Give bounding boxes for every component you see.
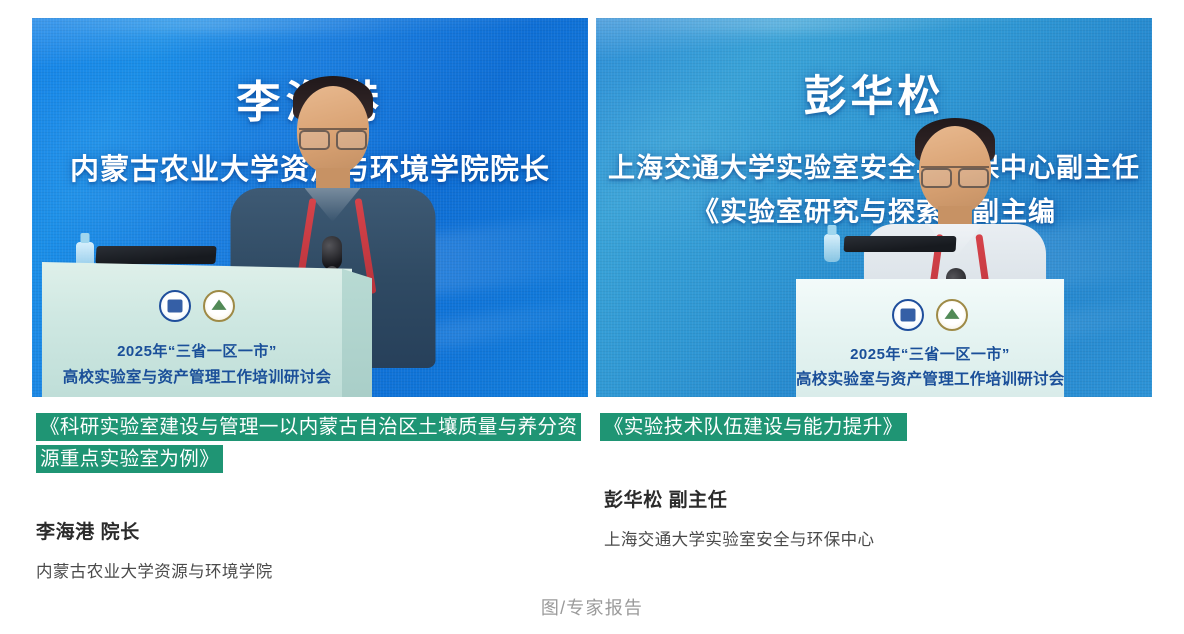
podium: 2025年“三省一区一市” 高校实验室与资产管理工作培训研讨会: [42, 262, 352, 397]
university-logo-icon: [892, 299, 924, 331]
podium-title-line-2: 高校实验室与资产管理工作培训研讨会: [42, 365, 352, 387]
podium-logos: [42, 290, 352, 322]
glasses-icon: [299, 128, 367, 145]
talk-title-wrap-1: 《科研实验室建设与管理一以内蒙古自治区土壤质量与养分资源重点实验室为例》: [32, 411, 588, 475]
speaker-photo-1: 李海港 内蒙古农业大学资源与环境学院院长: [32, 18, 588, 397]
laptop: [844, 236, 957, 252]
speaker-name: 彭华松 副主任: [600, 485, 1152, 512]
podium-title-line-2: 高校实验室与资产管理工作培训研讨会: [796, 367, 1064, 389]
water-bottle: [824, 234, 840, 262]
talk-title: 《科研实验室建设与管理一以内蒙古自治区土壤质量与养分资源重点实验室为例》: [36, 413, 581, 473]
screen-speaker-name: 彭华松: [596, 62, 1152, 124]
podium-title-line-1: 2025年“三省一区一市”: [796, 343, 1064, 364]
speaker-columns: 李海港 内蒙古农业大学资源与环境学院院长: [32, 18, 1152, 582]
laptop: [95, 246, 216, 264]
speaker-meta-1: 李海港 院长 内蒙古农业大学资源与环境学院: [32, 517, 588, 582]
podium-title-line-1: 2025年“三省一区一市”: [42, 340, 352, 361]
light-streak: [618, 20, 963, 29]
speaker-meta-2: 彭华松 副主任 上海交通大学实验室安全与环保中心: [596, 485, 1152, 550]
podium: 2025年“三省一区一市” 高校实验室与资产管理工作培训研讨会: [796, 279, 1064, 397]
speaker-organization: 上海交通大学实验室安全与环保中心: [600, 526, 1152, 550]
expert-report-figure: 李海港 内蒙古农业大学资源与环境学院院长: [0, 0, 1184, 634]
university-logo-icon: [159, 290, 191, 322]
speaker-photo-2: 彭华松 上海交通大学实验室安全与环保中心副主任 《实验室研究与探索》副主编: [596, 18, 1152, 397]
podium-logos: [796, 299, 1064, 331]
talk-title-wrap-2: 《实验技术队伍建设与能力提升》: [596, 411, 1152, 443]
speaker-card-1: 李海港 内蒙古农业大学资源与环境学院院长: [32, 18, 588, 582]
talk-title: 《实验技术队伍建设与能力提升》: [600, 413, 907, 441]
association-logo-icon: [936, 299, 968, 331]
glasses-icon: [921, 166, 989, 183]
microphone-head: [322, 236, 342, 270]
speaker-name: 李海港 院长: [36, 517, 588, 544]
speaker-card-2: 彭华松 上海交通大学实验室安全与环保中心副主任 《实验室研究与探索》副主编: [596, 18, 1152, 582]
association-logo-icon: [203, 290, 235, 322]
podium-side-panel: [342, 262, 372, 397]
figure-credit: 图/专家报告: [0, 594, 1184, 620]
light-streak: [54, 20, 399, 29]
speaker-organization: 内蒙古农业大学资源与环境学院: [36, 558, 588, 582]
